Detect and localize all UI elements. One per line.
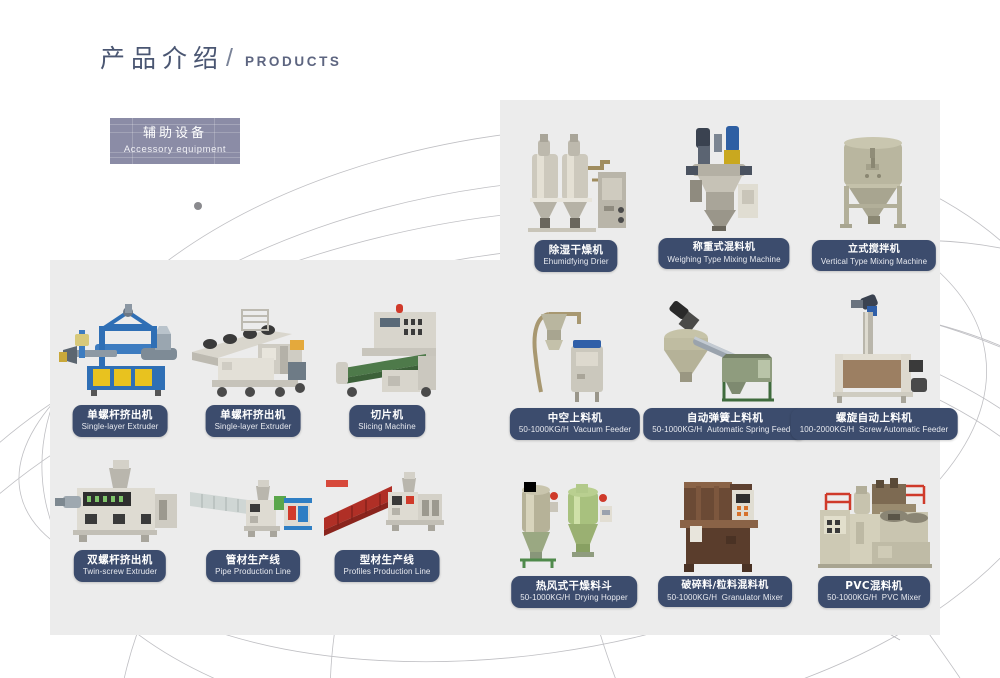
product-label-weighing-mixing-machine[interactable]: 称重式混料机 Weighing Type Mixing Machine [658, 238, 789, 269]
label-spec: 100-2000KG/H [800, 425, 855, 434]
label-en-text: PVC Mixer [882, 593, 921, 602]
label-en: Weighing Type Mixing Machine [667, 255, 780, 265]
label-en: Pipe Production Line [215, 567, 291, 577]
label-cn: 切片机 [358, 409, 416, 421]
label-en-text: Vacuum Feeder [574, 425, 632, 434]
product-label-vacuum-feeder[interactable]: 中空上料机 50-1000KG/H Vacuum Feeder [510, 408, 640, 440]
product-card-drying-hopper[interactable]: 热风式干燥料斗 50-1000KG/H Drying Hopper [512, 468, 636, 604]
label-en: 50-1000KG/H Automatic Spring Feeder [652, 425, 797, 435]
single-layer-extruder-image [55, 300, 185, 400]
title-separator: / [226, 46, 233, 71]
label-en-text: Drying Hopper [575, 593, 628, 602]
page-title-en: PRODUCTS [245, 55, 342, 72]
product-label-slicing-machine[interactable]: 切片机 Slicing Machine [349, 405, 425, 437]
product-card-slicing-machine[interactable]: 切片机 Slicing Machine [322, 298, 452, 435]
label-en: Ehumidfying Drier [543, 257, 608, 267]
label-en: 50-1000KG/H PVC Mixer [827, 593, 921, 603]
label-en-text: Automatic Spring Feeder [707, 425, 798, 434]
label-en: Profiles Production Line [344, 567, 431, 577]
twin-screw-extruder-image [55, 450, 185, 546]
product-card-twin-screw-extruder[interactable]: 双螺杆挤出机 Twin-screw Extruder [55, 450, 185, 580]
product-card-granulator-mixer[interactable]: 破碎料/粒料混料机 50-1000KG/H Granulator Mixer [666, 470, 784, 604]
product-label-screw-automatic-feeder[interactable]: 螺旋自动上料机 100-2000KG/H Screw Automatic Fee… [791, 408, 958, 440]
label-cn: 中空上料机 [519, 412, 631, 424]
granulator-mixer-image [666, 470, 784, 574]
label-cn: 除湿干燥机 [543, 244, 608, 256]
label-cn: PVC混料机 [827, 580, 921, 592]
badge-label-en: Accessory equipment [124, 144, 226, 155]
screw-automatic-feeder-image [815, 292, 933, 404]
label-en: Single-layer Extruder [82, 422, 159, 432]
page-title: 产品介绍 / PRODUCTS [100, 46, 342, 71]
label-en: 50-1000KG/H Granulator Mixer [667, 593, 783, 603]
label-cn: 螺旋自动上料机 [800, 412, 949, 424]
product-card-weighing-mixing-machine[interactable]: 称重式混料机 Weighing Type Mixing Machine [668, 122, 780, 268]
label-cn: 立式搅拌机 [821, 244, 927, 256]
product-label-profiles-production-line[interactable]: 型材生产线 Profiles Production Line [335, 550, 440, 582]
label-spec: 50-1000KG/H [519, 425, 569, 434]
label-cn: 管材生产线 [215, 554, 291, 566]
product-label-automatic-spring-feeder[interactable]: 自动弹簧上料机 50-1000KG/H Automatic Spring Fee… [643, 408, 806, 440]
profiles-production-line-image [322, 452, 452, 546]
label-en: 50-1000KG/H Vacuum Feeder [519, 425, 631, 435]
product-card-profiles-production-line[interactable]: 型材生产线 Profiles Production Line [322, 452, 452, 580]
label-cn: 单螺杆挤出机 [82, 409, 159, 421]
label-en: Twin-screw Extruder [83, 567, 157, 577]
label-en: Vertical Type Mixing Machine [821, 257, 927, 267]
label-cn: 破碎料/粒料混料机 [667, 580, 783, 592]
product-label-granulator-mixer[interactable]: 破碎料/粒料混料机 50-1000KG/H Granulator Mixer [658, 576, 792, 607]
slicing-machine-image [322, 298, 452, 400]
label-spec: 50-1000KG/H [827, 593, 877, 602]
dehumidifying-drier-image [518, 128, 634, 236]
label-cn: 双螺杆挤出机 [83, 554, 157, 566]
product-label-single-layer-extruder-1[interactable]: 单螺杆挤出机 Single-layer Extruder [73, 405, 168, 437]
page-title-cn: 产品介绍 [100, 46, 224, 71]
pvc-mixer-image [812, 470, 936, 574]
product-label-pvc-mixer[interactable]: PVC混料机 50-1000KG/H PVC Mixer [818, 576, 930, 608]
drying-hopper-image [512, 468, 636, 574]
product-label-single-layer-extruder-2[interactable]: 单螺杆挤出机 Single-layer Extruder [206, 405, 301, 437]
automatic-spring-feeder-image [660, 296, 790, 406]
pipe-production-line-image [188, 452, 318, 546]
label-cn: 型材生产线 [344, 554, 431, 566]
product-card-dehumidifying-drier[interactable]: 除湿干燥机 Ehumidfying Drier [518, 128, 634, 268]
product-label-pipe-production-line[interactable]: 管材生产线 Pipe Production Line [206, 550, 300, 582]
product-card-single-layer-extruder-2[interactable]: 单螺杆挤出机 Single-layer Extruder [188, 300, 318, 435]
label-en: Slicing Machine [358, 422, 416, 432]
badge-label-cn: 辅助设备 [143, 127, 207, 141]
roller-line-image [188, 300, 318, 400]
label-spec: 50-1000KG/H [652, 425, 702, 434]
page-canvas: 产品介绍 / PRODUCTS 辅助设备 Accessory equipment [0, 0, 1000, 678]
product-card-single-layer-extruder-1[interactable]: 单螺杆挤出机 Single-layer Extruder [55, 300, 185, 435]
label-cn: 单螺杆挤出机 [215, 409, 292, 421]
label-en: Single-layer Extruder [215, 422, 292, 432]
label-cn: 称重式混料机 [667, 242, 780, 254]
accessory-equipment-badge[interactable]: 辅助设备 Accessory equipment [110, 118, 240, 164]
product-card-vertical-mixing-machine[interactable]: 立式搅拌机 Vertical Type Mixing Machine [818, 128, 930, 268]
product-card-automatic-spring-feeder[interactable]: 自动弹簧上料机 50-1000KG/H Automatic Spring Fee… [660, 296, 790, 436]
label-spec: 50-1000KG/H [520, 593, 570, 602]
product-label-twin-screw-extruder[interactable]: 双螺杆挤出机 Twin-screw Extruder [74, 550, 166, 582]
label-en: 100-2000KG/H Screw Automatic Feeder [800, 425, 949, 435]
product-card-vacuum-feeder[interactable]: 中空上料机 50-1000KG/H Vacuum Feeder [515, 296, 635, 436]
product-label-drying-hopper[interactable]: 热风式干燥料斗 50-1000KG/H Drying Hopper [511, 576, 637, 608]
label-spec: 50-1000KG/H [667, 593, 717, 602]
label-cn: 自动弹簧上料机 [652, 412, 797, 424]
product-card-pvc-mixer[interactable]: PVC混料机 50-1000KG/H PVC Mixer [812, 470, 936, 604]
label-cn: 热风式干燥料斗 [520, 580, 628, 592]
label-en-text: Screw Automatic Feeder [859, 425, 948, 434]
vacuum-feeder-image [515, 296, 635, 406]
product-card-screw-automatic-feeder[interactable]: 螺旋自动上料机 100-2000KG/H Screw Automatic Fee… [815, 292, 933, 436]
product-label-vertical-mixing-machine[interactable]: 立式搅拌机 Vertical Type Mixing Machine [812, 240, 936, 271]
product-card-pipe-production-line[interactable]: 管材生产线 Pipe Production Line [188, 452, 318, 580]
label-en: 50-1000KG/H Drying Hopper [520, 593, 628, 603]
label-en-text: Granulator Mixer [722, 593, 783, 602]
product-label-dehumidifying-drier[interactable]: 除湿干燥机 Ehumidfying Drier [534, 240, 617, 272]
vertical-mixing-machine-image [818, 128, 930, 236]
weighing-mixing-machine-image [668, 122, 780, 234]
